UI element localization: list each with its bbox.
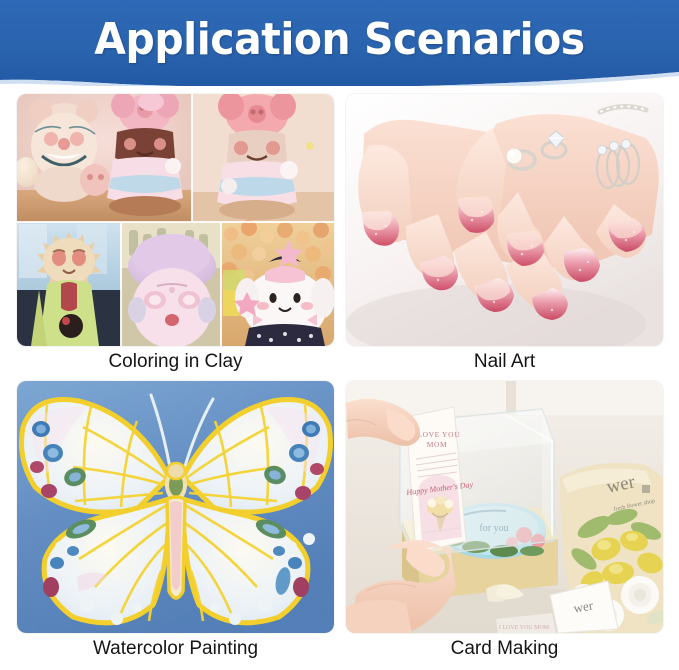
watercolor-painting-image xyxy=(17,381,334,633)
card-making-image: for you xyxy=(346,381,663,633)
scenario-card-coloring-in-clay[interactable]: Coloring in Clay xyxy=(17,94,334,377)
caption-watercolor-painting: Watercolor Painting xyxy=(17,633,334,664)
collage-cell-4 xyxy=(121,222,221,346)
collage-cell-1 xyxy=(17,94,192,222)
collage-cell-2 xyxy=(192,94,334,222)
caption-nail-art: Nail Art xyxy=(346,346,663,377)
collage-cell-3 xyxy=(17,222,121,346)
butterfly-illustration xyxy=(17,381,334,633)
nail-art-illustration xyxy=(346,94,663,346)
svg-text:I LOVE YOU MOM: I LOVE YOU MOM xyxy=(499,625,550,631)
page-header: Application Scenarios xyxy=(0,0,679,90)
caption-card-making: Card Making xyxy=(346,633,663,664)
scenario-card-nail-art[interactable]: Nail Art xyxy=(346,94,663,377)
card-making-illustration: for you xyxy=(346,381,663,633)
scenario-card-card-making[interactable]: for you xyxy=(346,381,663,664)
clay-collage-image xyxy=(17,94,334,346)
page-title: Application Scenarios xyxy=(24,14,655,65)
clay-collage-illustration xyxy=(17,94,334,346)
scenario-grid: Coloring in Clay xyxy=(17,94,663,664)
nail-art-image xyxy=(346,94,663,346)
scenario-card-watercolor-painting[interactable]: Watercolor Painting xyxy=(17,381,334,664)
card-line-2: MOM xyxy=(427,440,448,449)
butterfly-body xyxy=(165,463,187,598)
collage-cell-5 xyxy=(221,220,334,346)
caption-coloring-in-clay: Coloring in Clay xyxy=(17,346,334,377)
